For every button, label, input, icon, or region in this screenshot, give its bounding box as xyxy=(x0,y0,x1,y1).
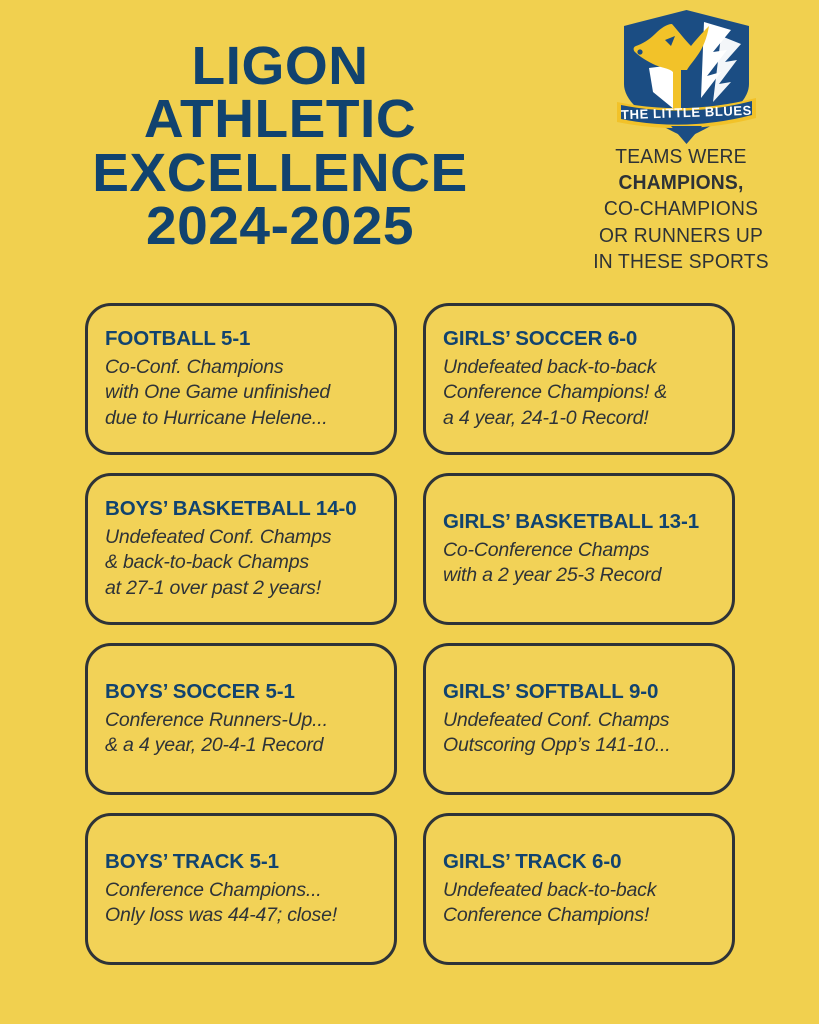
sport-card-title: GIRLS’ SOCCER 6-0 xyxy=(443,327,715,351)
header-caption: TEAMS WERE CHAMPIONS, CO-CHAMPIONS OR RU… xyxy=(587,144,775,275)
sport-card-boys-soccer: BOYS’ SOCCER 5-1 Conference Runners-Up..… xyxy=(85,643,397,795)
sport-card-body: Co-Conf. Champions with One Game unfinis… xyxy=(105,355,377,431)
sport-card-body-line: Undefeated Conf. Champs xyxy=(105,525,377,550)
sport-card-girls-basketball: GIRLS’ BASKETBALL 13-1 Co-Conference Cha… xyxy=(423,473,735,625)
sport-card-body: Undefeated Conf. Champs Outscoring Opp’s… xyxy=(443,708,715,759)
sport-card-body-line: at 27-1 over past 2 years! xyxy=(105,576,377,601)
page-title: LIGON ATHLETIC EXCELLENCE 2024-2025 xyxy=(0,40,560,254)
sport-card-body-line: with a 2 year 25-3 Record xyxy=(443,563,715,588)
sport-card-boys-track: BOYS’ TRACK 5-1 Conference Champions... … xyxy=(85,813,397,965)
sports-card-grid: FOOTBALL 5-1 Co-Conf. Champions with One… xyxy=(85,303,737,965)
sport-card-body-line: a 4 year, 24-1-0 Record! xyxy=(443,406,715,431)
sport-card-title: FOOTBALL 5-1 xyxy=(105,327,377,351)
sport-card-body-line: Only loss was 44-47; close! xyxy=(105,903,377,928)
sport-card-body-line: & a 4 year, 20-4-1 Record xyxy=(105,733,377,758)
sport-card-title: BOYS’ SOCCER 5-1 xyxy=(105,680,377,704)
sport-card-body: Undefeated Conf. Champs & back-to-back C… xyxy=(105,525,377,601)
sport-card-title: GIRLS’ TRACK 6-0 xyxy=(443,850,715,874)
sport-card-body-line: Conference Runners-Up... xyxy=(105,708,377,733)
sport-card-body-line: with One Game unfinished xyxy=(105,380,377,405)
sport-card-girls-soccer: GIRLS’ SOCCER 6-0 Undefeated back-to-bac… xyxy=(423,303,735,455)
sport-card-boys-basketball: BOYS’ BASKETBALL 14-0 Undefeated Conf. C… xyxy=(85,473,397,625)
sport-card-body-line: & back-to-back Champs xyxy=(105,550,377,575)
title-line-3: EXCELLENCE xyxy=(0,147,566,200)
sport-card-body-line: Outscoring Opp’s 141-10... xyxy=(443,733,715,758)
poster-header: LIGON ATHLETIC EXCELLENCE 2024-2025 xyxy=(0,0,819,290)
poster-title-text: LIGON ATHLETIC EXCELLENCE 2024-2025 xyxy=(0,40,566,254)
sport-card-body: Co-Conference Champs with a 2 year 25-3 … xyxy=(443,538,715,589)
sport-card-body-line: Co-Conf. Champions xyxy=(105,355,377,380)
sport-card-title: GIRLS’ SOFTBALL 9-0 xyxy=(443,680,715,704)
sport-card-title: BOYS’ BASKETBALL 14-0 xyxy=(105,497,377,521)
caption-line-5: IN THESE SPORTS xyxy=(587,249,775,275)
title-line-2: ATHLETIC xyxy=(0,93,566,146)
sport-card-girls-track: GIRLS’ TRACK 6-0 Undefeated back-to-back… xyxy=(423,813,735,965)
sport-card-body: Conference Runners-Up... & a 4 year, 20-… xyxy=(105,708,377,759)
sport-card-body-line: Co-Conference Champs xyxy=(443,538,715,563)
title-line-4: 2024-2025 xyxy=(0,200,566,253)
sport-card-title: GIRLS’ BASKETBALL 13-1 xyxy=(443,510,715,534)
sport-card-body: Conference Champions... Only loss was 44… xyxy=(105,878,377,929)
sport-card-girls-softball: GIRLS’ SOFTBALL 9-0 Undefeated Conf. Cha… xyxy=(423,643,735,795)
poster-root: LIGON ATHLETIC EXCELLENCE 2024-2025 xyxy=(0,0,819,1024)
caption-line-3: CO-CHAMPIONS xyxy=(587,196,775,222)
school-logo: THE LITTLE BLUES xyxy=(609,6,764,146)
sport-card-body-line: Undefeated Conf. Champs xyxy=(443,708,715,733)
caption-line-2: CHAMPIONS, xyxy=(587,170,775,196)
sport-card-body: Undefeated back-to-back Conference Champ… xyxy=(443,878,715,929)
sport-card-body-line: Conference Champions! & xyxy=(443,380,715,405)
sport-card-body-line: Undefeated back-to-back xyxy=(443,355,715,380)
sport-card-body-line: Conference Champions... xyxy=(105,878,377,903)
sport-card-body: Undefeated back-to-back Conference Champ… xyxy=(443,355,715,431)
sport-card-title: BOYS’ TRACK 5-1 xyxy=(105,850,377,874)
sport-card-football: FOOTBALL 5-1 Co-Conf. Champions with One… xyxy=(85,303,397,455)
title-line-1: LIGON xyxy=(0,40,566,93)
sport-card-body-line: Undefeated back-to-back xyxy=(443,878,715,903)
sport-card-body-line: due to Hurricane Helene... xyxy=(105,406,377,431)
caption-line-4: OR RUNNERS UP xyxy=(587,223,775,249)
sport-card-body-line: Conference Champions! xyxy=(443,903,715,928)
caption-line-1: TEAMS WERE xyxy=(587,144,775,170)
